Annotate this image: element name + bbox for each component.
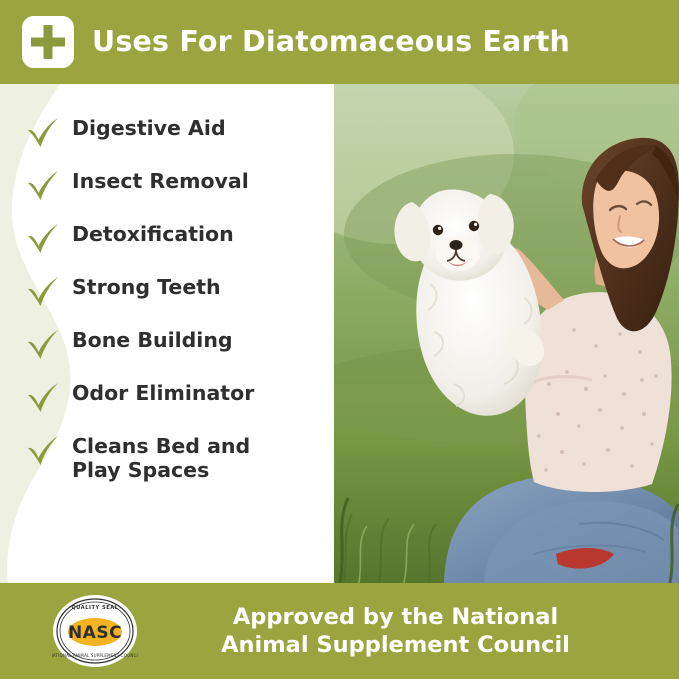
nasc-quality-seal-icon: QUALITY SEAL NASC NATIONAL ANIMAL SUPPLE… — [52, 594, 138, 668]
checkmark-icon — [26, 434, 60, 468]
benefit-label: Detoxification — [72, 220, 234, 246]
benefit-label: Insect Removal — [72, 167, 249, 193]
svg-text:NASC: NASC — [68, 623, 122, 643]
checkmark-icon — [26, 275, 60, 309]
header-bar: Uses For Diatomaceous Earth — [0, 0, 679, 84]
benefit-label: Odor Eliminator — [72, 379, 254, 405]
benefit-label: Bone Building — [72, 326, 233, 352]
benefits-panel: Digestive Aid Insect Removal Detoxificat… — [0, 84, 334, 583]
list-item: Cleans Bed and Play Spaces — [26, 432, 334, 482]
checkmark-icon — [26, 222, 60, 256]
list-item: Detoxification — [26, 220, 334, 258]
list-item: Strong Teeth — [26, 273, 334, 311]
list-item: Odor Eliminator — [26, 379, 334, 417]
footer-bar: QUALITY SEAL NASC NATIONAL ANIMAL SUPPLE… — [0, 583, 679, 679]
benefit-label: Strong Teeth — [72, 273, 221, 299]
page-title: Uses For Diatomaceous Earth — [92, 25, 570, 58]
footer-approval-text: Approved by the National Animal Suppleme… — [156, 603, 679, 659]
svg-text:QUALITY SEAL: QUALITY SEAL — [71, 605, 118, 611]
svg-text:NATIONAL ANIMAL SUPPLEMENT COU: NATIONAL ANIMAL SUPPLEMENT COUNCIL — [52, 653, 138, 658]
benefit-label: Digestive Aid — [72, 114, 226, 140]
checkmark-icon — [26, 328, 60, 362]
checkmark-icon — [26, 116, 60, 150]
checkmark-icon — [26, 169, 60, 203]
checkmark-icon — [26, 381, 60, 415]
benefits-list: Digestive Aid Insect Removal Detoxificat… — [0, 84, 334, 482]
lifestyle-photo — [334, 84, 679, 583]
main-content: Digestive Aid Insect Removal Detoxificat… — [0, 84, 679, 583]
list-item: Digestive Aid — [26, 114, 334, 152]
product-infographic: Uses For Diatomaceous Earth Digestive Ai… — [0, 0, 679, 679]
list-item: Insect Removal — [26, 167, 334, 205]
list-item: Bone Building — [26, 326, 334, 364]
benefit-label: Cleans Bed and Play Spaces — [72, 432, 250, 482]
medical-cross-icon — [22, 16, 74, 68]
